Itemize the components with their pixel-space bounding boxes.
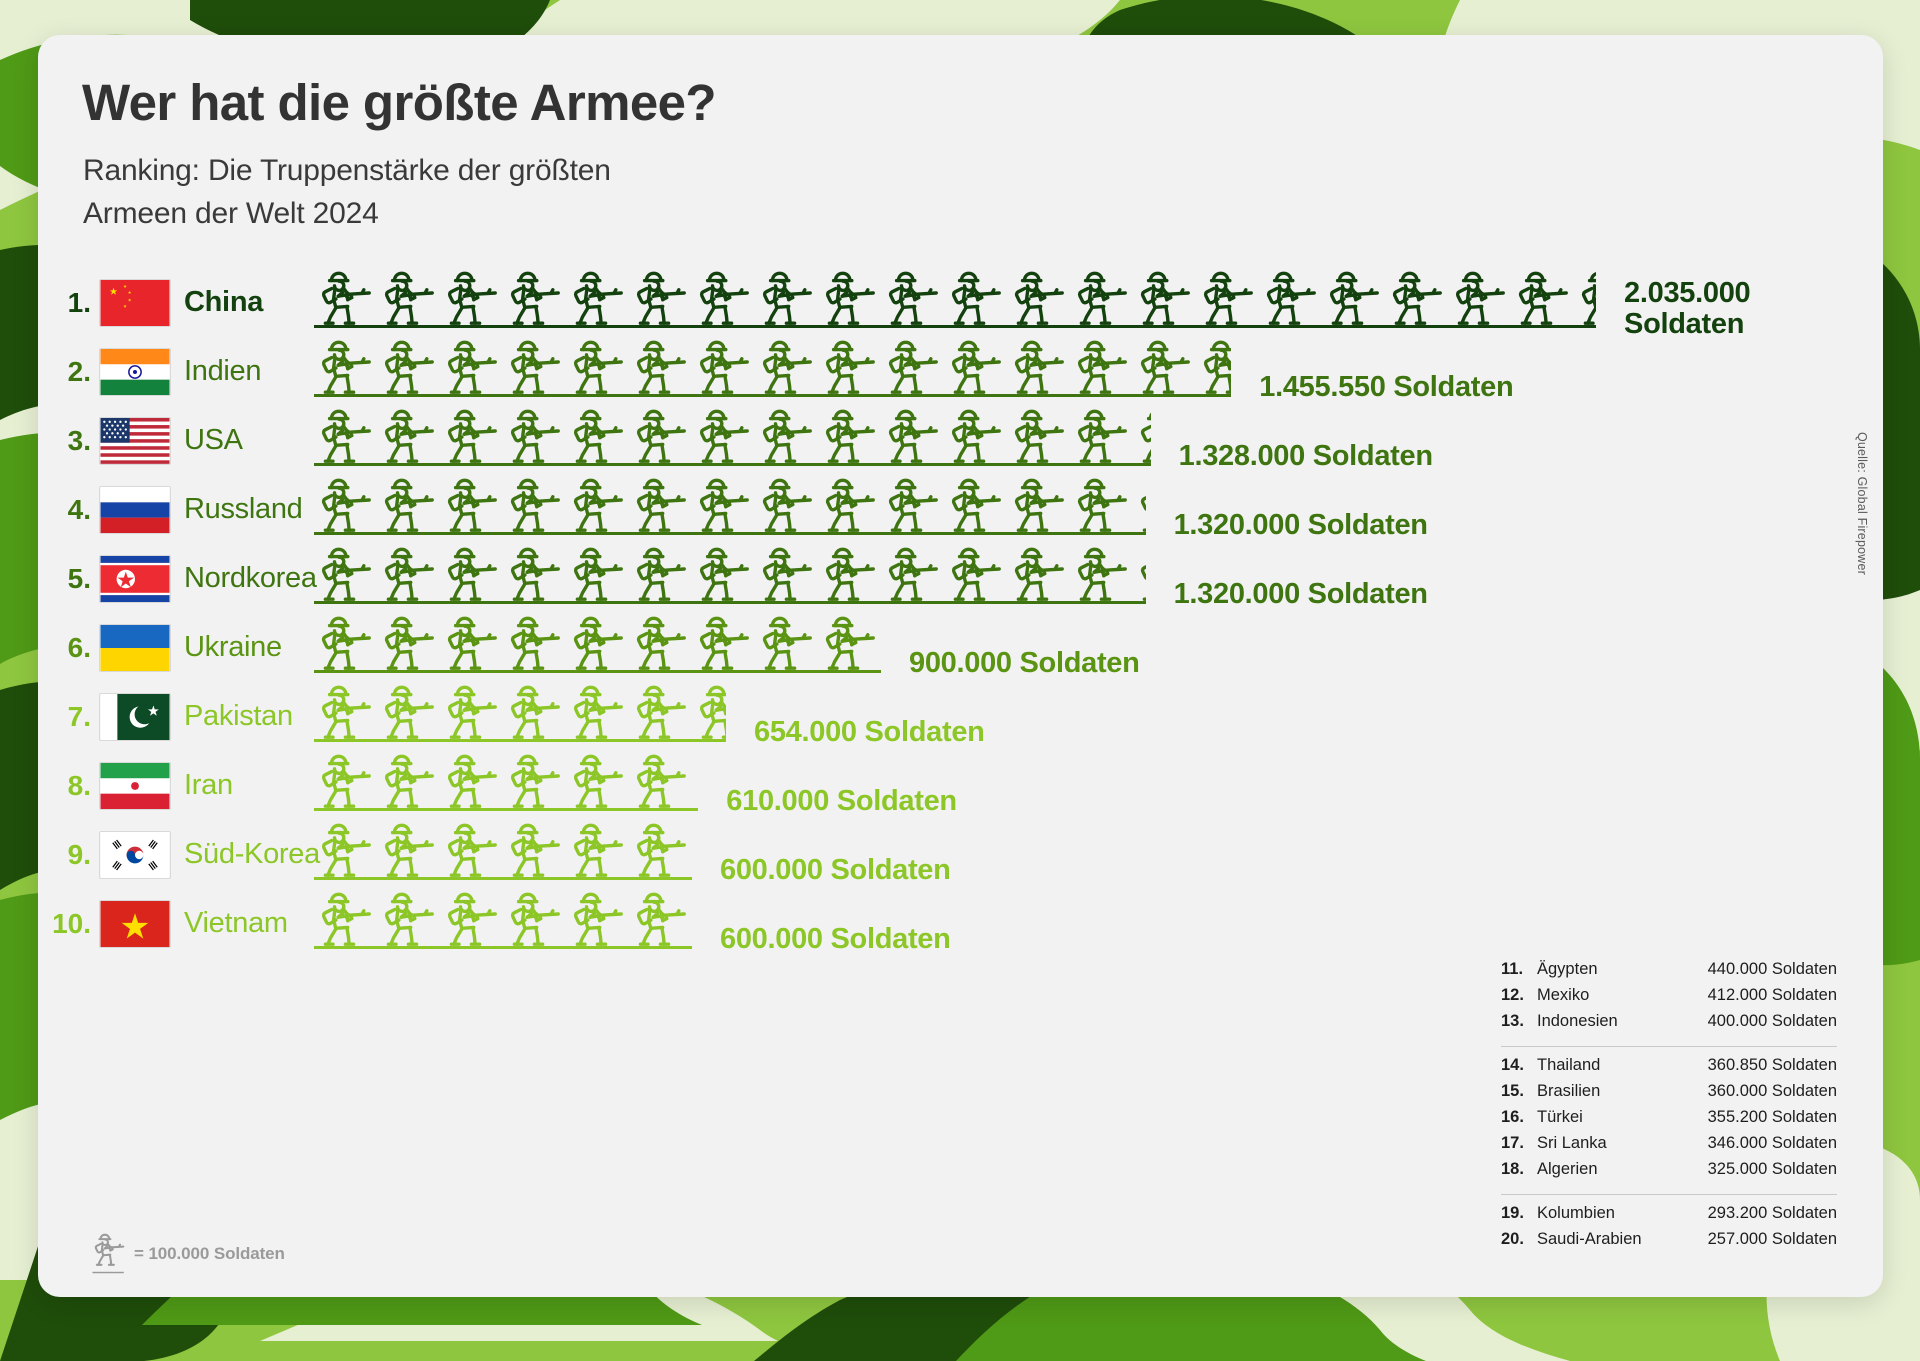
soldier-icon [692,680,726,742]
country-name: Kolumbien [1537,1204,1708,1223]
country-name: Pakistan [184,700,293,733]
soldier-icon [377,335,440,397]
soldier-icon-group [314,404,1151,466]
rank-number: 4. [38,494,100,526]
soldier-icon [692,335,755,397]
soldier-count-label: 1.455.550 Soldaten [1259,372,1513,402]
soldier-icon [629,887,692,949]
soldier-icon [440,818,503,880]
soldier-icon [818,611,881,673]
flag-cn-icon [100,280,170,326]
ranking-row: 5.Nordkorea1.320.000 Soldaten [38,544,1883,613]
bar-baseline [314,670,881,673]
soldier-icon [566,818,629,880]
soldier-count-label: 600.000 Soldaten [720,855,951,885]
rank-number: 8. [38,770,100,802]
soldier-icon [314,335,377,397]
soldier-icon [1133,404,1151,466]
flag-pk-icon [100,694,170,740]
soldier-icon-group [314,749,698,811]
soldier-icon [944,542,1007,604]
soldier-count-label: 412.000 Soldaten [1708,986,1837,1005]
bar-baseline [314,739,726,742]
soldier-icon [314,266,377,328]
country-name: Iran [184,769,233,802]
soldier-icon [944,473,1007,535]
soldier-count-label: 257.000 Soldaten [1708,1230,1837,1249]
soldier-icon [440,680,503,742]
rank-number: 14. [1501,1056,1537,1075]
ranking-row: 6.Ukraine900.000 Soldaten [38,613,1883,682]
soldier-icon [1070,404,1133,466]
soldier-icon [503,473,566,535]
soldier-count-label: 2.035.000 Soldaten [1624,278,1750,339]
soldier-icon [377,611,440,673]
soldier-icon [314,680,377,742]
country-name: Algerien [1537,1160,1708,1179]
country-name: Süd-Korea [184,838,320,871]
ranking-row: 9.Süd-Korea600.000 Soldaten [38,820,1883,889]
soldier-icon [692,542,755,604]
soldier-icon [629,749,692,811]
bar-baseline [314,463,1151,466]
soldier-count-label: 346.000 Soldaten [1708,1134,1837,1153]
soldier-count-label: 360.000 Soldaten [1708,1082,1837,1101]
soldier-icon [503,887,566,949]
page-subtitle: Ranking: Die Truppenstärke der größten A… [83,150,611,235]
rank-number: 13. [1501,1012,1537,1031]
country-name: Saudi-Arabien [1537,1230,1708,1249]
pictogram-bar [314,611,881,673]
soldier-icon [881,542,944,604]
soldier-icon [566,749,629,811]
secondary-row: 14.Thailand360.850 Soldaten [1501,1056,1837,1082]
soldier-icon [503,335,566,397]
soldier-icon [440,749,503,811]
soldier-icon [1448,266,1511,328]
pictogram-bar [314,335,1231,397]
soldier-icon-group [314,818,692,880]
flag-ir-icon [100,763,170,809]
soldier-icon [503,404,566,466]
flag-ru-icon [100,487,170,533]
rank-number: 11. [1501,960,1537,979]
soldier-icon [1007,335,1070,397]
soldier-icon [944,266,1007,328]
soldier-icon [1007,404,1070,466]
soldier-icon [1133,335,1196,397]
soldier-icon [377,473,440,535]
rank-number: 19. [1501,1204,1537,1223]
soldier-icon [1133,542,1146,604]
ranking-list: 1.China2.035.000 Soldaten2.Indien1.455.5… [38,268,1883,958]
country-name: Ukraine [184,631,282,664]
soldier-icon [944,335,1007,397]
soldier-count-label: 1.320.000 Soldaten [1174,579,1428,609]
soldier-count-label: 360.850 Soldaten [1708,1056,1837,1075]
soldier-icon [629,266,692,328]
ranking-row: 2.Indien1.455.550 Soldaten [38,337,1883,406]
soldier-icon [90,1229,128,1269]
soldier-count-label: 610.000 Soldaten [726,786,957,816]
flag-ua-icon [100,625,170,671]
soldier-icon [440,335,503,397]
pictogram-bar [314,749,698,811]
soldier-icon [314,404,377,466]
secondary-row: 19.Kolumbien293.200 Soldaten [1501,1204,1837,1230]
soldier-icon [1133,266,1196,328]
soldier-count-label: 325.000 Soldaten [1708,1160,1837,1179]
soldier-icon [692,404,755,466]
soldier-icon [503,749,566,811]
soldier-icon [503,542,566,604]
soldier-icon [314,542,377,604]
country-name: Indien [184,355,261,388]
soldier-icon [818,542,881,604]
ranking-row: 8.Iran610.000 Soldaten [38,751,1883,820]
secondary-row: 13.Indonesien400.000 Soldaten [1501,1012,1837,1038]
soldier-icon [1574,266,1596,328]
bar-baseline [314,946,692,949]
rank-number: 1. [38,287,100,319]
soldier-icon [503,818,566,880]
flag-kp-icon [100,556,170,602]
bar-baseline [314,808,698,811]
soldier-icon [566,680,629,742]
soldier-icon [818,473,881,535]
soldier-icon [755,473,818,535]
soldier-icon-group [314,680,726,742]
bar-baseline [314,532,1146,535]
soldier-icon [629,611,692,673]
soldier-icon [629,818,692,880]
soldier-count-label: 1.320.000 Soldaten [1174,510,1428,540]
soldier-count-label: 293.200 Soldaten [1708,1204,1837,1223]
soldier-icon [944,404,1007,466]
soldier-icon [503,611,566,673]
soldier-icon [377,680,440,742]
soldier-icon [440,611,503,673]
soldier-icon [755,611,818,673]
soldier-icon [1259,266,1322,328]
flag-us-icon [100,418,170,464]
pictogram-bar [314,680,726,742]
soldier-icon [629,680,692,742]
country-name: USA [184,424,243,457]
country-name: Ägypten [1537,960,1708,979]
rank-number: 2. [38,356,100,388]
country-name: Mexiko [1537,986,1708,1005]
table-divider [1501,1046,1837,1047]
bar-baseline [314,877,692,880]
page-title: Wer hat die größte Armee? [82,73,716,132]
bar-baseline [314,394,1231,397]
soldier-icon [629,335,692,397]
pictogram-bar [314,473,1146,535]
ranking-row: 10.Vietnam600.000 Soldaten [38,889,1883,958]
soldier-icon [440,404,503,466]
country-name: Türkei [1537,1108,1708,1127]
country-name: China [184,286,263,319]
soldier-icon [566,335,629,397]
soldier-icon [314,749,377,811]
soldier-icon [566,542,629,604]
rank-number: 10. [38,908,100,940]
soldier-icon [566,887,629,949]
soldier-icon [881,473,944,535]
flag-in-icon [100,349,170,395]
soldier-icon [755,404,818,466]
soldier-icon [818,266,881,328]
soldier-icon [566,266,629,328]
rank-number: 9. [38,839,100,871]
secondary-row: 11.Ägypten440.000 Soldaten [1501,960,1837,986]
rank-number: 6. [38,632,100,664]
country-name: Brasilien [1537,1082,1708,1101]
pictogram-bar [314,818,692,880]
soldier-icon [692,749,698,811]
soldier-icon-group [314,335,1231,397]
soldier-count-label: 400.000 Soldaten [1708,1012,1837,1031]
soldier-icon [1511,266,1574,328]
soldier-icon [1007,542,1070,604]
table-divider [1501,1194,1837,1195]
soldier-icon [692,473,755,535]
soldier-icon [314,818,377,880]
rank-number: 5. [38,563,100,595]
soldier-icon [1007,266,1070,328]
country-name: Vietnam [184,907,288,940]
secondary-row: 12.Mexiko412.000 Soldaten [1501,986,1837,1012]
soldier-icon [1322,266,1385,328]
soldier-icon [629,473,692,535]
legend: = 100.000 Soldaten [90,1229,285,1269]
ranking-row: 3.USA1.328.000 Soldaten [38,406,1883,475]
soldier-count-label: 600.000 Soldaten [720,924,951,954]
soldier-count-label: 440.000 Soldaten [1708,960,1837,979]
soldier-icon [566,473,629,535]
legend-label: = 100.000 Soldaten [134,1244,285,1269]
ranking-row: 4.Russland1.320.000 Soldaten [38,475,1883,544]
country-name: Indonesien [1537,1012,1708,1031]
soldier-icon-group [314,542,1146,604]
country-name: Sri Lanka [1537,1134,1708,1153]
secondary-row: 17.Sri Lanka346.000 Soldaten [1501,1134,1837,1160]
rank-number: 16. [1501,1108,1537,1127]
soldier-icon [881,404,944,466]
rank-number: 7. [38,701,100,733]
bar-baseline [314,601,1146,604]
secondary-row: 20.Saudi-Arabien257.000 Soldaten [1501,1230,1837,1256]
soldier-icon [440,473,503,535]
soldier-icon [566,404,629,466]
soldier-icon [1070,473,1133,535]
pictogram-bar [314,404,1151,466]
secondary-row: 18.Algerien325.000 Soldaten [1501,1160,1837,1186]
pictogram-bar [314,266,1596,328]
soldier-icon [755,542,818,604]
soldier-icon [377,749,440,811]
soldier-icon [1007,473,1070,535]
rank-number: 3. [38,425,100,457]
soldier-icon [440,887,503,949]
soldier-icon [692,611,755,673]
soldier-icon-group [314,473,1146,535]
soldier-count-label: 1.328.000 Soldaten [1179,441,1433,471]
soldier-icon [566,611,629,673]
soldier-icon [1070,335,1133,397]
soldier-count-label: 355.200 Soldaten [1708,1108,1837,1127]
pictogram-bar [314,887,692,949]
country-name: Nordkorea [184,562,317,595]
soldier-icon-group [314,887,692,949]
soldier-icon [1070,542,1133,604]
soldier-icon [503,680,566,742]
rank-number: 17. [1501,1134,1537,1153]
ranking-row: 1.China2.035.000 Soldaten [38,268,1883,337]
rank-number: 12. [1501,986,1537,1005]
soldier-icon [377,818,440,880]
rank-number: 15. [1501,1082,1537,1101]
soldier-icon [881,335,944,397]
soldier-icon [377,542,440,604]
infographic-card: Wer hat die größte Armee? Ranking: Die T… [38,35,1883,1297]
soldier-icon [692,266,755,328]
soldier-icon [1385,266,1448,328]
soldier-icon [629,404,692,466]
bar-baseline [314,325,1596,328]
soldier-count-label: 900.000 Soldaten [909,648,1140,678]
flag-vn-icon [100,901,170,947]
soldier-icon-group [314,611,881,673]
flag-kr-icon [100,832,170,878]
secondary-row: 16.Türkei355.200 Soldaten [1501,1108,1837,1134]
soldier-icon [440,266,503,328]
soldier-icon [1196,266,1259,328]
soldier-icon [629,542,692,604]
country-name: Russland [184,493,303,526]
soldier-icon [377,887,440,949]
soldier-icon [314,473,377,535]
soldier-icon [377,266,440,328]
soldier-icon [314,887,377,949]
soldier-icon [377,404,440,466]
soldier-count-label: 654.000 Soldaten [754,717,985,747]
secondary-row: 15.Brasilien360.000 Soldaten [1501,1082,1837,1108]
soldier-icon [503,266,566,328]
rank-number: 18. [1501,1160,1537,1179]
rank-number: 20. [1501,1230,1537,1249]
soldier-icon [818,404,881,466]
country-name: Thailand [1537,1056,1708,1075]
soldier-icon [881,266,944,328]
soldier-icon [1133,473,1146,535]
soldier-icon [440,542,503,604]
soldier-icon [314,611,377,673]
soldier-icon-group [314,266,1596,328]
ranking-row: 7.Pakistan654.000 Soldaten [38,682,1883,751]
soldier-icon [90,1229,128,1269]
soldier-icon [755,335,818,397]
soldier-icon [818,335,881,397]
soldier-icon [755,266,818,328]
soldier-icon [1196,335,1231,397]
pictogram-bar [314,542,1146,604]
secondary-ranking-table: 11.Ägypten440.000 Soldaten12.Mexiko412.0… [1501,960,1837,1256]
soldier-icon [1070,266,1133,328]
